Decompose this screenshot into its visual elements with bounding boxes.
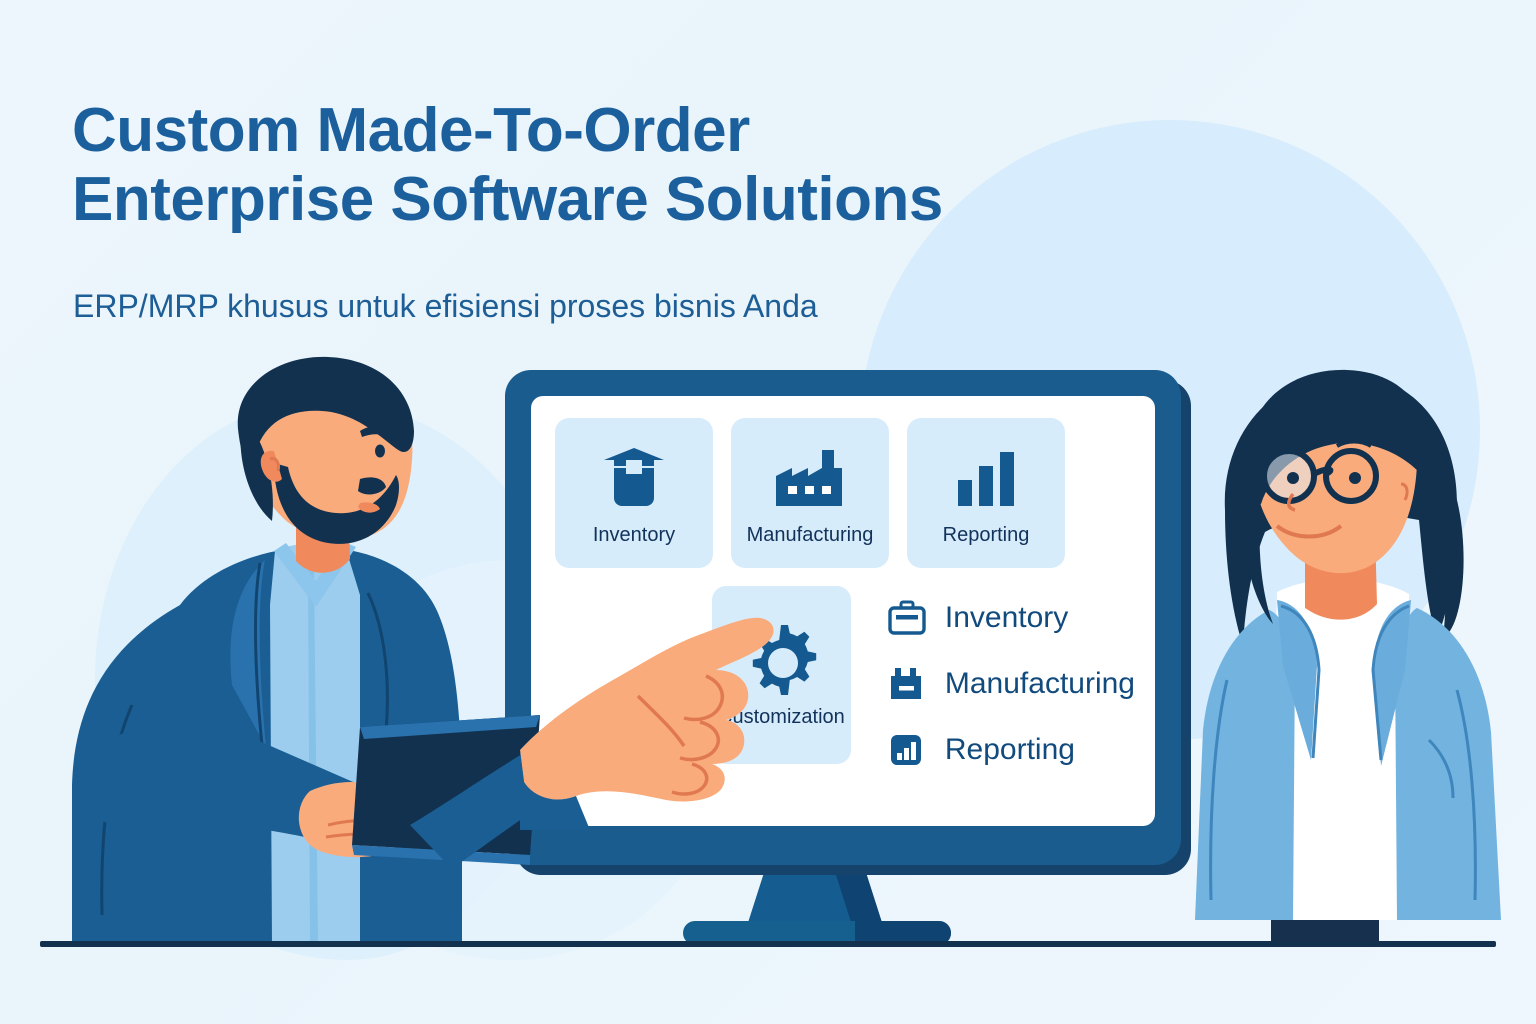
- factory-solid-icon: [887, 664, 927, 704]
- legend-label-manufacturing: Manufacturing: [945, 667, 1135, 701]
- pointing-hand: [520, 600, 800, 830]
- open-box-icon: [598, 440, 670, 518]
- page-title: Custom Made-To-Order Enterprise Software…: [72, 96, 1132, 235]
- legend-label-inventory: Inventory: [945, 601, 1068, 635]
- factory-icon: [772, 440, 848, 518]
- tile-manufacturing[interactable]: Manufacturing: [731, 418, 889, 568]
- briefcase-icon: [887, 598, 927, 638]
- tile-label-inventory: Inventory: [593, 524, 675, 547]
- tile-reporting[interactable]: Reporting: [907, 418, 1065, 568]
- ground-line: [40, 941, 1496, 947]
- legend-item-manufacturing[interactable]: Manufacturing: [887, 664, 1135, 704]
- page-subtitle: ERP/MRP khusus untuk efisiensi proses bi…: [73, 288, 1073, 325]
- illustration-man: [60, 355, 560, 945]
- feature-legend-list: Inventory Manufactu: [887, 598, 1135, 770]
- tile-label-reporting: Reporting: [943, 524, 1030, 547]
- tile-row-top: Inventory Manufacturing: [555, 418, 1135, 568]
- legend-item-inventory[interactable]: Inventory: [887, 598, 1135, 638]
- legend-label-reporting: Reporting: [945, 733, 1075, 767]
- headline-line-2: Enterprise Software Solutions: [72, 165, 1132, 234]
- illustration-woman: [1165, 360, 1536, 945]
- legend-item-reporting[interactable]: Reporting: [887, 730, 1135, 770]
- hero-banner: Custom Made-To-Order Enterprise Software…: [0, 0, 1536, 1024]
- headline-line-1: Custom Made-To-Order: [72, 96, 750, 165]
- chart-square-icon: [887, 730, 927, 770]
- bar-chart-icon: [952, 440, 1020, 518]
- tile-inventory[interactable]: Inventory: [555, 418, 713, 568]
- tile-label-manufacturing: Manufacturing: [747, 524, 874, 547]
